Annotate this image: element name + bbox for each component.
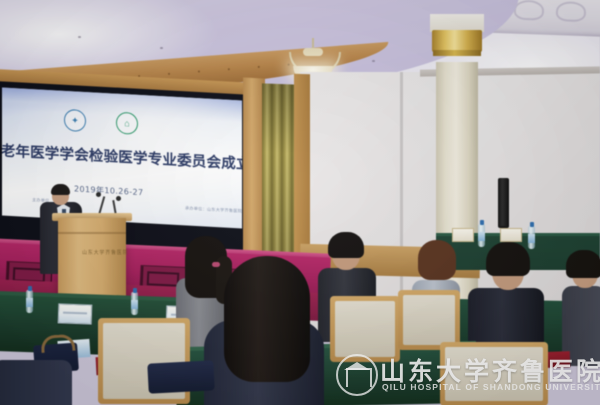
microphone-head: [96, 192, 101, 197]
podium-bevel: [58, 232, 126, 234]
presenter-hair: [51, 184, 70, 195]
handbag: [147, 360, 214, 393]
loudspeaker-tower: [498, 178, 509, 228]
column-gold-band: [432, 30, 482, 52]
microphone-head: [116, 196, 121, 201]
podium: [58, 218, 126, 302]
name-card: [452, 228, 474, 242]
chair: [440, 342, 548, 405]
chair: [398, 290, 460, 350]
stage-curtain-shading: [262, 83, 296, 256]
chair: [330, 296, 400, 362]
curtain-wood-post: [294, 74, 310, 261]
water-bottle: [528, 226, 535, 249]
column-gold-ring: [433, 50, 481, 56]
society-emblem-blue-icon: ✦: [64, 109, 86, 132]
water-bottle: [131, 292, 138, 315]
projection-screen: ✦ ⌂ 省老年医学学会检验医学专业委员会成立大会 2019年10.26-27 主…: [2, 88, 242, 229]
conference-hall-photo: ✦ ⌂ 省老年医学学会检验医学专业委员会成立大会 2019年10.26-27 主…: [0, 0, 600, 405]
water-bottle: [478, 224, 485, 247]
name-card: [500, 228, 522, 242]
podium-front-text: 山东大学齐鲁医院: [82, 249, 128, 256]
slide-logos: ✦ ⌂: [64, 109, 138, 135]
name-card: [58, 303, 93, 324]
water-bottle: [26, 290, 33, 313]
hospital-emblem-green-icon: ⌂: [116, 112, 138, 135]
